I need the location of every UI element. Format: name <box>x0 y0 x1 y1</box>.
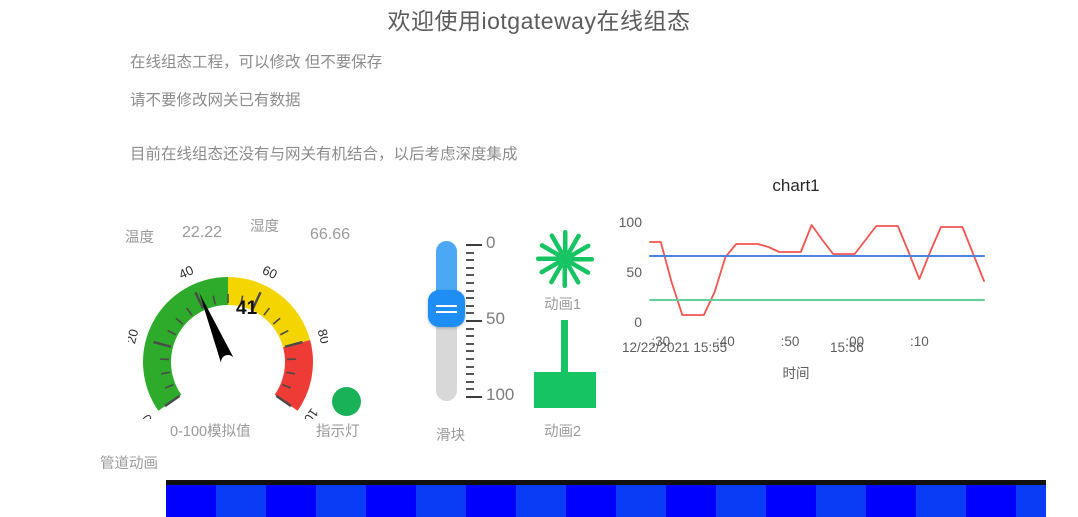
slider-minor-tick <box>466 290 474 292</box>
svg-text:20: 20 <box>128 327 141 345</box>
slider-thumb[interactable] <box>428 290 465 327</box>
slider-minor-tick <box>466 373 474 375</box>
chart-x-sublabel-1: 12/22/2021 15:55 <box>622 340 727 355</box>
page-title: 欢迎使用iotgateway在线组态 <box>0 2 1078 36</box>
svg-text:80: 80 <box>315 327 328 345</box>
gauge-caption: 0-100模拟值 <box>170 420 251 441</box>
hammer-tee-icon[interactable] <box>534 320 596 415</box>
svg-text:50: 50 <box>626 264 642 280</box>
pipe-body <box>166 485 1046 517</box>
slider-minor-tick <box>466 297 474 299</box>
animation-widgets: 动画1 动画2 <box>530 228 620 443</box>
temperature-value: 22.22 <box>182 224 222 242</box>
gauge-dial: 02040608010041 <box>128 244 328 419</box>
svg-text:100: 100 <box>297 406 322 419</box>
slider-minor-tick <box>466 335 474 337</box>
canvas-root: 欢迎使用iotgateway在线组态 在线组态工程，可以修改 但不要保存 请不要… <box>0 0 1078 517</box>
humidity-label: 湿度 <box>250 215 279 236</box>
slider-major-tick <box>466 244 482 246</box>
note-line-2: 请不要修改网关已有数据 <box>130 88 301 110</box>
animation-1-caption: 动画1 <box>544 293 581 314</box>
svg-text:60: 60 <box>260 262 279 282</box>
slider-scale-label: 100 <box>486 385 514 405</box>
slider-caption: 滑块 <box>436 424 465 445</box>
svg-text:0: 0 <box>139 412 155 419</box>
svg-text::10: :10 <box>910 334 929 349</box>
slider-major-tick <box>466 396 482 398</box>
chart-widget: chart1 050100:30:40:50:00:10 12/22/2021 … <box>612 176 1012 391</box>
chart-title: chart1 <box>612 176 980 196</box>
svg-text:41: 41 <box>236 298 258 319</box>
slider-minor-tick <box>466 381 474 383</box>
svg-text:100: 100 <box>619 214 643 230</box>
slider-minor-tick <box>466 282 474 284</box>
indicator-lamp-caption: 指示灯 <box>316 420 360 441</box>
slider-widget[interactable]: 050100 滑块 <box>418 232 528 442</box>
slider-minor-tick <box>466 358 474 360</box>
slider-scale-label: 50 <box>486 309 505 329</box>
slider-scale-label: 0 <box>486 233 495 253</box>
slider-minor-tick <box>466 312 474 314</box>
indicator-lamp[interactable] <box>332 387 361 416</box>
fan-spinner-icon[interactable] <box>534 228 596 290</box>
humidity-value: 66.66 <box>310 226 350 244</box>
animation-2-caption: 动画2 <box>544 420 581 441</box>
slider-scale: 050100 <box>466 232 524 412</box>
slider-minor-tick <box>466 252 474 254</box>
gauge-widget[interactable]: 温度 22.22 湿度 66.66 02040608010041 0-100模拟… <box>110 212 390 442</box>
slider-minor-tick <box>466 259 474 261</box>
slider-minor-tick <box>466 366 474 368</box>
chart-x-axis-title: 时间 <box>612 362 980 382</box>
pipe-animation <box>166 480 1046 517</box>
chart-x-sublabel-2: 15:56 <box>830 340 864 355</box>
svg-text:40: 40 <box>176 262 195 282</box>
svg-text:0: 0 <box>634 314 642 330</box>
note-line-1: 在线组态工程，可以修改 但不要保存 <box>130 50 382 72</box>
note-line-3: 目前在线组态还没有与网关有机结合，以后考虑深度集成 <box>130 142 518 164</box>
pipe-animation-caption: 管道动画 <box>100 452 158 473</box>
slider-minor-tick <box>466 388 474 390</box>
slider-minor-tick <box>466 305 474 307</box>
slider-major-tick <box>466 320 482 322</box>
slider-minor-tick <box>466 274 474 276</box>
slider-minor-tick <box>466 267 474 269</box>
slider-minor-tick <box>466 350 474 352</box>
svg-text::50: :50 <box>781 334 800 349</box>
slider-minor-tick <box>466 343 474 345</box>
slider-minor-tick <box>466 328 474 330</box>
